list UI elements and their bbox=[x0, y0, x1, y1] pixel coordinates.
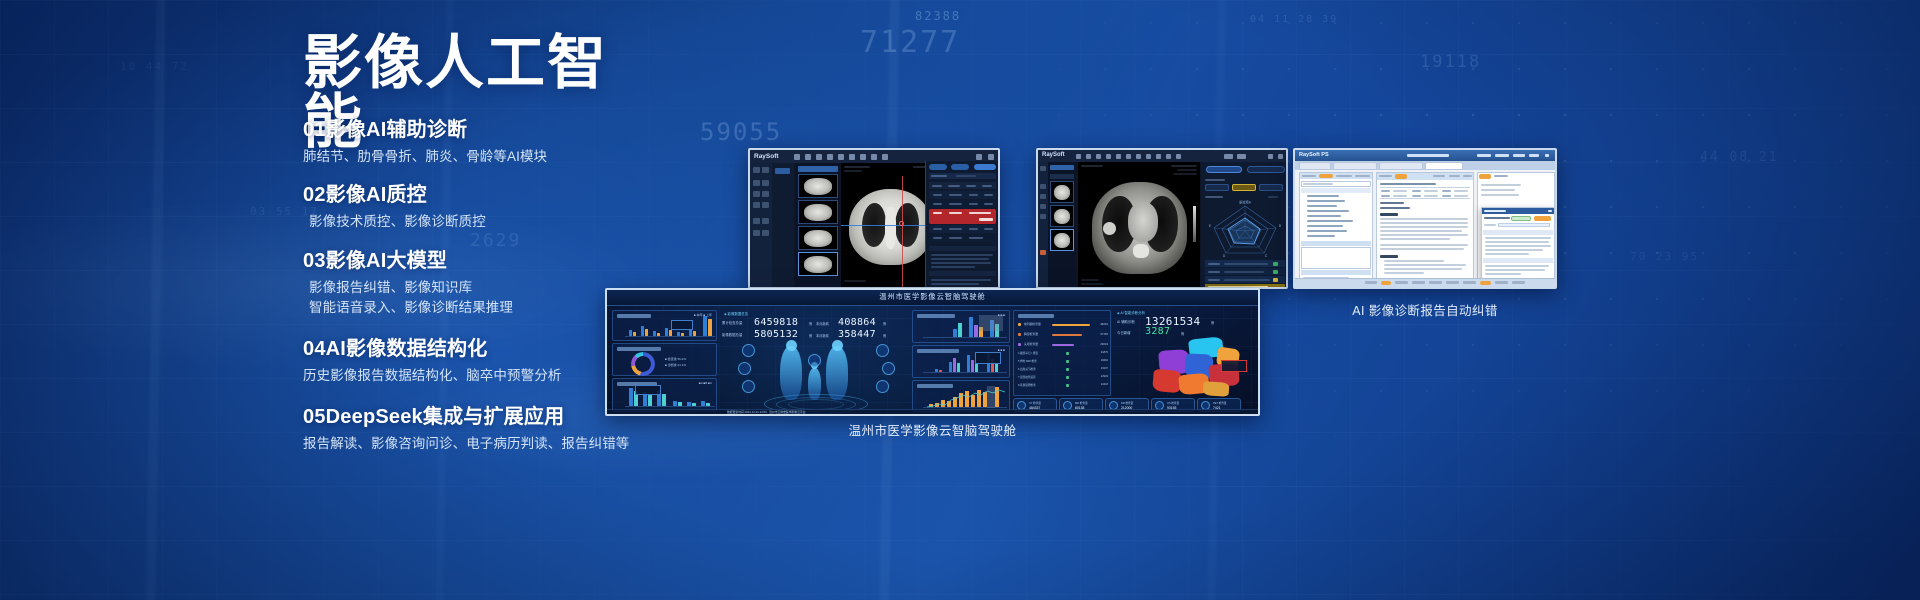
rank-row[interactable]: 7 颈部血管造影 12933 bbox=[1018, 375, 1108, 382]
kpi-value-5: 3287 bbox=[1145, 326, 1170, 337]
window-level-bar[interactable] bbox=[1193, 206, 1196, 242]
feature-subtitle-03: 影像报告纠错、影像知识库 bbox=[309, 278, 513, 298]
tree-footer bbox=[1301, 270, 1371, 275]
tree-detail-box bbox=[1301, 247, 1371, 269]
toolbar-icon[interactable] bbox=[1086, 154, 1091, 159]
titlebar-menu[interactable] bbox=[1477, 154, 1491, 157]
feature-number-01: 01 bbox=[303, 119, 326, 141]
feature-subtitle-04: 历史影像报告数据结构化、脑卒中预警分析 bbox=[303, 366, 561, 386]
human-figure-child bbox=[808, 368, 821, 400]
series-thumbnail[interactable] bbox=[1050, 181, 1074, 203]
rail-icon[interactable] bbox=[753, 218, 760, 224]
feature-title-04: 04AI影像数据结构化 bbox=[303, 337, 561, 361]
rank-row[interactable]: 前列腺检查量 48291 bbox=[1018, 321, 1108, 329]
feature-subtitle-02: 影像技术质控、影像诊断质控 bbox=[309, 212, 486, 232]
metric-icon[interactable] bbox=[742, 344, 755, 357]
left-text-column: 影像人工智能 01影像AI辅助诊断 肺结节、肋骨骨折、肺炎、骨龄等AI模块 02… bbox=[0, 0, 640, 600]
ct-ai-result-panel[interactable] bbox=[925, 161, 998, 287]
feature-subtitle-05: 报告解读、影像咨询问诊、电子病历判读、报告纠错等 bbox=[303, 434, 629, 454]
bottom-button[interactable] bbox=[1495, 281, 1508, 284]
toolbar-icon[interactable] bbox=[1126, 154, 1131, 159]
finding-row[interactable] bbox=[1205, 276, 1285, 283]
report-section-title bbox=[929, 246, 996, 251]
toolbar-icon[interactable] bbox=[1076, 154, 1081, 159]
toolbar-icon[interactable] bbox=[1146, 154, 1151, 159]
toolbar-icon[interactable] bbox=[1156, 154, 1161, 159]
result-row[interactable] bbox=[929, 200, 996, 208]
popup-section-header bbox=[1483, 258, 1553, 263]
map-region[interactable] bbox=[1203, 381, 1230, 397]
qc-grade-button[interactable] bbox=[1205, 184, 1229, 191]
report-toolbar-button-active[interactable] bbox=[1395, 174, 1407, 179]
heart-region bbox=[1128, 202, 1158, 242]
rank-row[interactable]: 胸部检查量 37155 bbox=[1018, 331, 1108, 339]
result-row[interactable] bbox=[929, 191, 996, 199]
human-figure-adult bbox=[826, 346, 848, 400]
series-thumbnail-selected[interactable] bbox=[798, 252, 838, 276]
tab[interactable] bbox=[1299, 162, 1331, 170]
feature-subtitle-03b: 智能语音录入、影像诊断结果推理 bbox=[309, 298, 513, 318]
feature-name-04: AI影像数据结构化 bbox=[326, 338, 488, 360]
donut-chart bbox=[631, 352, 655, 376]
tree-node[interactable] bbox=[1307, 235, 1335, 237]
tree-node[interactable] bbox=[1307, 210, 1349, 212]
tree-node[interactable] bbox=[1307, 215, 1341, 217]
rail-icon[interactable] bbox=[762, 230, 769, 236]
feature-title-01: 01影像AI辅助诊断 bbox=[303, 118, 547, 142]
qc-grade-button-selected[interactable] bbox=[1232, 184, 1256, 191]
metric-icon[interactable] bbox=[876, 344, 889, 357]
nodule-marker bbox=[899, 221, 904, 226]
toolbar-icon[interactable] bbox=[1237, 154, 1246, 159]
vertebra bbox=[1133, 244, 1149, 258]
bottom-button[interactable] bbox=[1446, 281, 1459, 284]
result-row[interactable] bbox=[929, 234, 996, 242]
svg-text:E: E bbox=[1209, 224, 1211, 228]
metric-icon[interactable] bbox=[808, 354, 821, 367]
svg-text:D: D bbox=[1223, 254, 1226, 258]
popup-field[interactable] bbox=[1498, 223, 1550, 227]
chart-highlight bbox=[979, 315, 1003, 331]
dashboard-footer bbox=[607, 409, 1258, 414]
kpi-value-1: 408864 bbox=[838, 317, 876, 328]
qc-left-rail bbox=[1038, 162, 1048, 287]
rail-icon[interactable] bbox=[762, 180, 769, 186]
kpi-hologram-zone: ◈ 影像数据总览 累计检查总量 6459818 例 本月新增 408864 例 … bbox=[720, 310, 910, 412]
toolbar-icon[interactable] bbox=[816, 154, 822, 160]
feature-name-03: 影像AI大模型 bbox=[326, 250, 447, 272]
rail-icon[interactable] bbox=[762, 191, 769, 197]
qc-viewer-window[interactable]: RaySoft bbox=[1036, 148, 1288, 289]
feature-item-03: 03影像AI大模型 影像报告纠错、影像知识库 智能语音录入、影像诊断结果推理 bbox=[303, 249, 513, 318]
card-yearly-stat[interactable] bbox=[912, 380, 1010, 412]
popup-action-button[interactable] bbox=[1534, 216, 1551, 221]
rail-icon[interactable] bbox=[762, 167, 769, 173]
popup-section-header bbox=[1483, 230, 1553, 235]
series-tab[interactable] bbox=[775, 168, 790, 174]
qc-ct-view[interactable] bbox=[1078, 162, 1200, 287]
kpi-value-3: 358447 bbox=[838, 329, 876, 340]
toolbar-icon[interactable] bbox=[805, 154, 811, 160]
app-logo: RaySoft bbox=[754, 153, 779, 160]
kpi-unit-1: 例 bbox=[883, 321, 886, 326]
kpi-unit-5: 例 bbox=[1181, 331, 1184, 336]
toolbar-icon[interactable] bbox=[871, 154, 877, 160]
panel-button[interactable] bbox=[929, 164, 947, 170]
dashboard-caption: 温州市医学影像云智脑驾驶舱 bbox=[605, 420, 1260, 439]
kpi-unit-0: 例 bbox=[809, 321, 812, 326]
kpi-unit-4: 例 bbox=[1211, 320, 1214, 325]
feature-number-05: 05 bbox=[303, 406, 326, 428]
feature-subtitle-01: 肺结节、肋骨骨折、肺炎、骨龄等AI模块 bbox=[303, 147, 547, 167]
rail-icon[interactable] bbox=[1040, 166, 1046, 171]
rank-row[interactable]: 5 脊柱 MRI 检查 18462 bbox=[1018, 359, 1108, 366]
bottom-button[interactable] bbox=[1512, 281, 1525, 284]
feature-item-02: 02影像AI质控 影像技术质控、影像诊断质控 bbox=[303, 183, 486, 232]
rail-icon[interactable] bbox=[753, 202, 760, 208]
feature-title-05: 05DeepSeek集成与扩展应用 bbox=[303, 405, 629, 429]
thumbnail-header bbox=[798, 166, 838, 172]
artifact-region bbox=[1103, 222, 1116, 235]
tab[interactable] bbox=[1379, 162, 1423, 170]
rail-icon[interactable] bbox=[753, 230, 760, 236]
screenshot-qc-artifact[interactable]: RaySoft bbox=[1036, 148, 1288, 289]
bottom-button[interactable] bbox=[1365, 281, 1377, 284]
series-thumbnail[interactable] bbox=[1050, 205, 1074, 227]
region-map[interactable] bbox=[1133, 338, 1251, 396]
result-row[interactable] bbox=[929, 225, 996, 233]
rail-icon[interactable] bbox=[762, 218, 769, 224]
toolbar-icon[interactable] bbox=[1136, 154, 1141, 159]
bottom-button[interactable] bbox=[1463, 281, 1476, 284]
status-badge-ok bbox=[1511, 216, 1531, 221]
tree-node[interactable] bbox=[1307, 220, 1353, 222]
metric-icon[interactable] bbox=[738, 362, 751, 375]
bottom-button[interactable] bbox=[1429, 281, 1442, 284]
toolbar-icon[interactable] bbox=[1224, 154, 1233, 159]
bottom-button[interactable] bbox=[1412, 281, 1425, 284]
kpi-value-2: 5805132 bbox=[754, 329, 798, 340]
toolbar-icon[interactable] bbox=[827, 154, 833, 160]
kpi-label-3: 本月新增 bbox=[816, 333, 829, 338]
kpi-unit-2: 例 bbox=[809, 333, 812, 338]
map-tooltip bbox=[1221, 360, 1247, 372]
feature-number-02: 02 bbox=[303, 184, 326, 206]
feature-title-02: 02影像AI质控 bbox=[303, 183, 486, 207]
tree-node[interactable] bbox=[1307, 230, 1347, 232]
kpi-label-0: 累计检查总量 bbox=[722, 320, 742, 325]
toolbar-icon[interactable] bbox=[1116, 154, 1121, 159]
toolbar-icon[interactable] bbox=[1106, 154, 1111, 159]
kpi-label-1: 本月新增 bbox=[816, 321, 829, 326]
card-monthly-trend[interactable]: ■A ■B ■C bbox=[612, 378, 717, 412]
series-thumbnail[interactable] bbox=[798, 200, 838, 224]
minimize-icon[interactable] bbox=[1268, 154, 1273, 159]
panel-button-active[interactable] bbox=[974, 164, 996, 170]
card-device-usage[interactable]: ■ ■ ■ bbox=[912, 310, 1010, 343]
kpi-label-2: 影像数据总量 bbox=[722, 332, 742, 337]
series-thumbnail-selected[interactable] bbox=[1050, 229, 1074, 251]
result-row-highlighted[interactable] bbox=[929, 209, 996, 224]
rail-icon[interactable] bbox=[753, 180, 760, 186]
card-ranking-list[interactable]: 前列腺检查量 48291 胸部检查量 37155 头颅检查量 29034 bbox=[1013, 310, 1111, 396]
bottom-button[interactable] bbox=[1395, 281, 1408, 284]
series-strip bbox=[772, 163, 794, 287]
card-service-share[interactable]: ■ 检查类 56.2% ■ 诊断类 24.1% bbox=[612, 343, 717, 376]
bottom-button-primary[interactable] bbox=[1480, 281, 1491, 285]
patient-info-strip bbox=[1380, 187, 1470, 199]
rail-icon[interactable] bbox=[1040, 204, 1046, 209]
card-report-volume[interactable]: ■ ■ ■ bbox=[912, 345, 1010, 378]
toolbar-icon[interactable] bbox=[794, 154, 800, 160]
kpi-value-0: 6459818 bbox=[754, 317, 798, 328]
thumbnail-label bbox=[1050, 174, 1074, 179]
panel-button[interactable] bbox=[951, 164, 969, 170]
rail-icon[interactable] bbox=[753, 167, 760, 173]
screenshot-report-correct[interactable]: RaySoft PS bbox=[1293, 148, 1557, 289]
toolbar-icon[interactable] bbox=[860, 154, 866, 160]
thumbnail-header bbox=[1050, 165, 1074, 170]
metric-icon[interactable] bbox=[876, 380, 889, 393]
series-thumbnail[interactable] bbox=[798, 174, 838, 198]
tree-node[interactable] bbox=[1307, 200, 1345, 202]
rail-icon[interactable] bbox=[753, 191, 760, 197]
svg-text:C: C bbox=[1265, 254, 1268, 258]
rail-icon[interactable] bbox=[1040, 184, 1046, 189]
feature-name-01: 影像AI辅助诊断 bbox=[326, 119, 468, 141]
rail-icon[interactable] bbox=[1040, 214, 1046, 219]
kpi-label-5: 今日新增 bbox=[1117, 330, 1131, 335]
feature-number-03: 03 bbox=[303, 250, 326, 272]
popup-close-icon[interactable] bbox=[1548, 210, 1552, 212]
qc-grade-button[interactable] bbox=[1259, 184, 1283, 191]
toolbar-icon[interactable] bbox=[1096, 154, 1101, 159]
app-logo: RaySoft bbox=[1042, 152, 1065, 158]
screenshot-caption-3: AI 影像诊断报告自动纠错 bbox=[1293, 300, 1557, 319]
dashboard-window[interactable]: 温州市医学影像云智脑驾驶舱 ■ 本年 ■ 上年 bbox=[605, 288, 1260, 416]
rank-row[interactable]: 8 乳腺钼靶检查 10418 bbox=[1018, 383, 1108, 390]
feature-item-05: 05DeepSeek集成与扩展应用 报告解读、影像咨询问诊、电子病历判读、报告纠… bbox=[303, 405, 629, 454]
close-icon[interactable] bbox=[1278, 154, 1283, 159]
tab[interactable] bbox=[1333, 162, 1377, 170]
titlebar-menu[interactable] bbox=[1495, 154, 1509, 157]
rail-icon[interactable] bbox=[762, 202, 769, 208]
trend-line bbox=[923, 387, 1007, 409]
settings-icon[interactable] bbox=[976, 154, 982, 160]
ai-map-zone: ◈ AI 智能诊断分析 AI 辅助诊断 13261534 例 今日新增 3287… bbox=[1115, 310, 1257, 396]
chart-tooltip bbox=[635, 385, 661, 395]
report-section-title bbox=[929, 271, 996, 276]
human-figure-adult bbox=[780, 346, 802, 400]
finding-row[interactable] bbox=[1205, 260, 1285, 267]
qc-tab-button[interactable] bbox=[1206, 166, 1242, 173]
toolbar-icon[interactable] bbox=[849, 154, 855, 160]
map-region[interactable] bbox=[1152, 369, 1182, 393]
toolbar-icon[interactable] bbox=[882, 154, 888, 160]
filter-button-active[interactable] bbox=[1319, 174, 1333, 178]
tree-node[interactable] bbox=[1307, 205, 1337, 207]
chart-tooltip bbox=[975, 352, 1001, 364]
toolbar-icon[interactable] bbox=[838, 154, 844, 160]
close-icon[interactable] bbox=[988, 154, 994, 160]
toolbar-icon[interactable] bbox=[1166, 154, 1171, 159]
close-icon[interactable] bbox=[1545, 154, 1549, 157]
tree-root[interactable] bbox=[1301, 188, 1371, 193]
feature-number-04: 04 bbox=[303, 338, 326, 360]
feature-item-04: 04AI影像数据结构化 历史影像报告数据结构化、脑卒中预警分析 bbox=[303, 337, 561, 386]
feature-title-03: 03影像AI大模型 bbox=[303, 249, 513, 273]
tree-node[interactable] bbox=[1307, 225, 1343, 227]
rank-row[interactable]: 4 腹部平扫 / 增强 21870 bbox=[1018, 351, 1108, 358]
tab-active[interactable] bbox=[1425, 162, 1463, 170]
feature-name-02: 影像AI质控 bbox=[326, 184, 427, 206]
toolbar-icon[interactable] bbox=[1176, 154, 1181, 159]
feature-item-01: 01影像AI辅助诊断 肺结节、肋骨骨折、肺炎、骨龄等AI模块 bbox=[303, 118, 547, 167]
chart-tooltip bbox=[671, 320, 693, 330]
dashboard-canvas: 温州市医学影像云智脑驾驶舱 ■ 本年 ■ 上年 bbox=[607, 290, 1258, 414]
finding-row[interactable] bbox=[1205, 268, 1285, 275]
metric-icon[interactable] bbox=[882, 362, 895, 375]
card-hospital-volume[interactable]: ■ 本年 ■ 上年 bbox=[612, 310, 717, 341]
window-title bbox=[1407, 154, 1449, 157]
dashboard-header-title: 温州市医学影像云智脑驾驶舱 bbox=[879, 292, 985, 302]
rank-row[interactable]: 6 四肢关节检查 15207 bbox=[1018, 367, 1108, 374]
kpi-unit-3: 例 bbox=[883, 333, 886, 338]
feature-name-05: DeepSeek集成与扩展应用 bbox=[326, 406, 565, 428]
series-thumbnail[interactable] bbox=[798, 226, 838, 250]
screenshot-dashboard[interactable]: 温州市医学影像云智脑驾驶舱 ■ 本年 ■ 上年 bbox=[605, 288, 1260, 416]
metric-icon[interactable] bbox=[742, 380, 755, 393]
rail-icon-alert[interactable] bbox=[1040, 250, 1046, 255]
svg-text:B: B bbox=[1279, 224, 1281, 228]
qc-radar-chart: 质控项AB CDE bbox=[1206, 200, 1284, 258]
titlebar-menu[interactable] bbox=[1529, 154, 1539, 157]
svg-text:质控项A: 质控项A bbox=[1239, 200, 1252, 205]
right-panel-button-active[interactable] bbox=[1479, 174, 1491, 179]
bottom-button-primary[interactable] bbox=[1381, 281, 1391, 285]
qc-tab-button[interactable] bbox=[1247, 166, 1285, 173]
rail-icon[interactable] bbox=[1040, 194, 1046, 199]
rank-row[interactable]: 头颅检查量 29034 bbox=[1018, 341, 1108, 349]
kpi-label-4: AI 辅助诊断 bbox=[1117, 319, 1135, 324]
app-logo: RaySoft PS bbox=[1299, 152, 1329, 158]
tree-node[interactable] bbox=[1307, 195, 1339, 197]
report-editor-window[interactable]: RaySoft PS bbox=[1293, 148, 1557, 289]
tree-section-header bbox=[1301, 241, 1371, 246]
titlebar-menu[interactable] bbox=[1513, 154, 1525, 157]
